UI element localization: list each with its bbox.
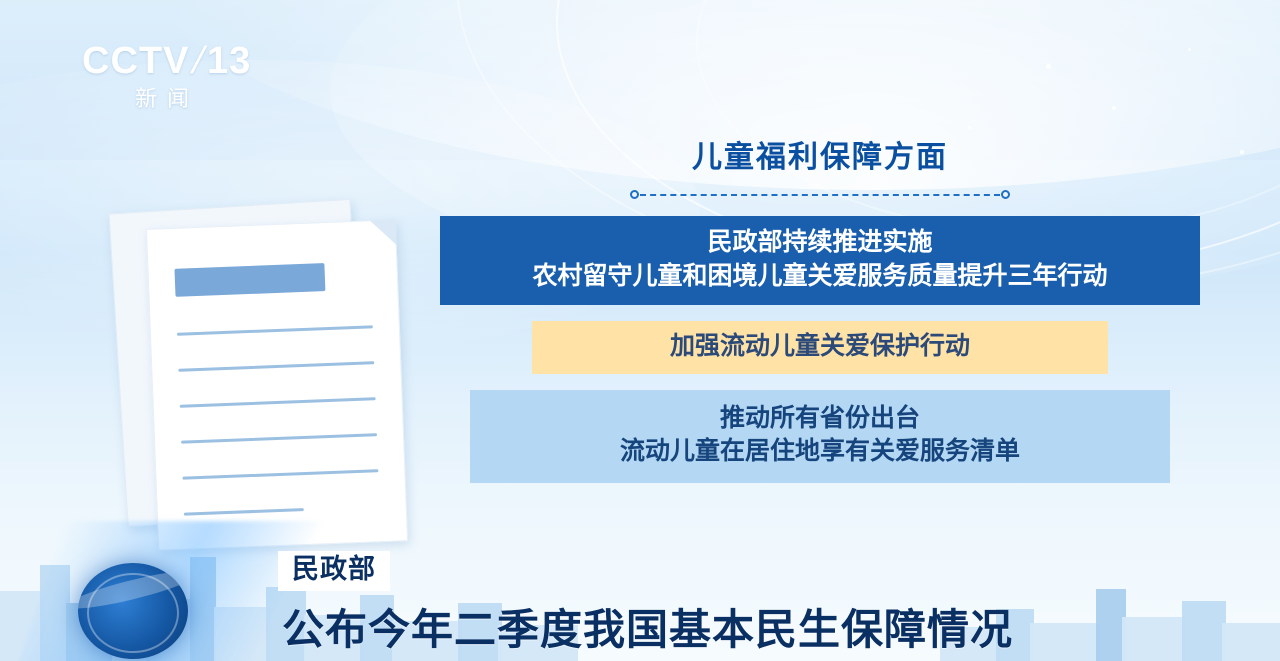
sparkle-icon [1188,48,1191,51]
document-text-line [181,433,377,444]
info-block-secondary: 推动所有省份出台 流动儿童在居住地享有关爱服务清单 [470,390,1170,483]
document-text-line [180,397,376,408]
divider-dot-left [630,190,639,199]
info-block-highlight-line1: 加强流动儿童关爱保护行动 [558,330,1082,364]
document-text-line [177,325,373,336]
sparkle-icon [1112,106,1116,110]
broadcast-frame: CCTV/13 新闻 儿童福利保障方面 民政部持续推进实施 农村留守儿童和困境儿… [0,0,1280,661]
headline-text: 公布今年二季度我国基本民生保障情况 [282,605,1013,655]
channel-logo: CCTV/13 新闻 [82,42,242,110]
channel-logo-cctv: CCTV [82,40,189,82]
channel-logo-number: 13 [207,40,251,82]
channel-logo-main: CCTV/13 [82,42,242,80]
panel-title: 儿童福利保障方面 [420,140,1220,176]
document-header-bar [174,263,325,297]
info-block-primary-line1: 民政部持续推进实施 [458,226,1182,260]
title-divider [630,190,1010,200]
document-text-line [184,508,304,516]
info-block-secondary-line1: 推动所有省份出台 [492,402,1148,436]
lower-third: 民政部 公布今年二季度我国基本民生保障情况 [0,551,1280,661]
globe-icon [78,563,188,659]
sparkle-icon [1240,150,1244,154]
info-panel: 儿童福利保障方面 民政部持续推进实施 农村留守儿童和困境儿童关爱服务质量提升三年… [420,140,1220,499]
organization-tag: 民政部 [278,551,390,591]
divider-dot-right [1001,190,1010,199]
info-block-primary-line2: 农村留守儿童和困境儿童关爱服务质量提升三年行动 [458,260,1182,294]
info-block-secondary-line2: 流动儿童在居住地享有关爱服务清单 [492,435,1148,469]
info-block-primary: 民政部持续推进实施 农村留守儿童和困境儿童关爱服务质量提升三年行动 [440,216,1200,305]
info-block-highlight: 加强流动儿童关爱保护行动 [532,321,1108,374]
documents-illustration [92,196,472,556]
document-text-line [182,469,378,480]
document-fold-corner [370,219,397,246]
document-front-sheet [146,219,408,550]
divider-dashed-line [640,194,1000,196]
sparkle-icon [1046,64,1051,69]
document-text-line [178,361,374,372]
sparkle-icon [968,126,971,129]
channel-logo-subtitle: 新闻 [82,88,242,110]
